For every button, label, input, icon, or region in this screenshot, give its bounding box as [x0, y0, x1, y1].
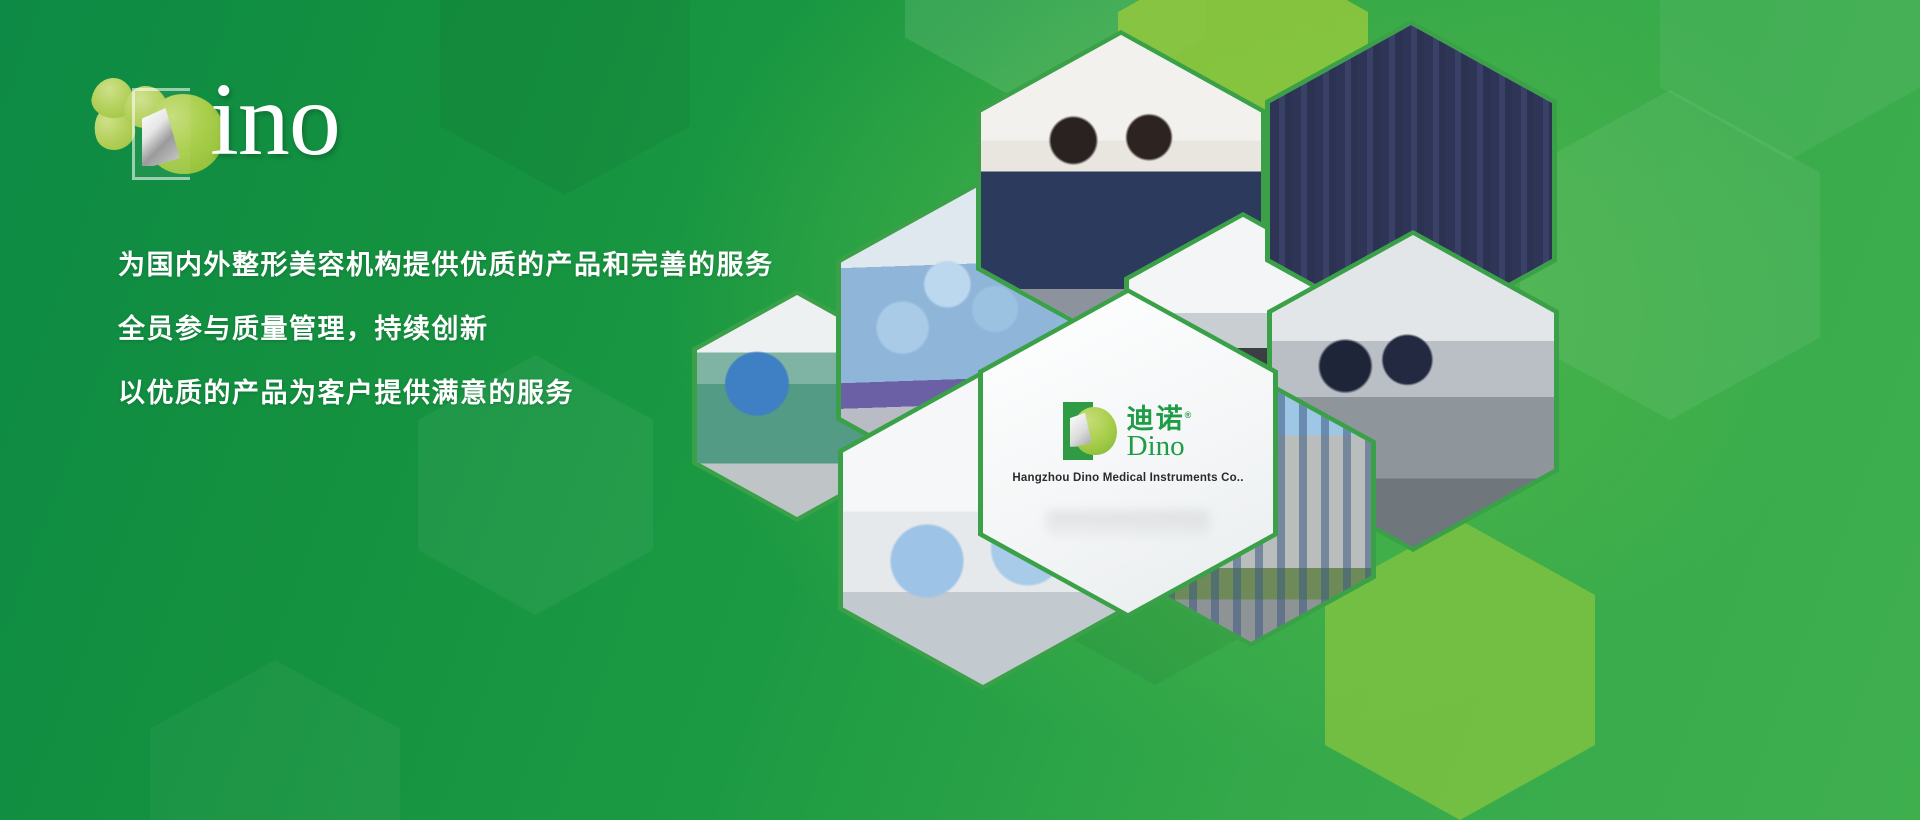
hero-banner: ino 为国内外整形美容机构提供优质的产品和完善的服务 全员参与质量管理，持续创… — [0, 0, 1920, 820]
logo-wordmark: ino — [210, 68, 340, 172]
center-logo-company-line: Hangzhou Dino Medical Instruments Co.. — [983, 472, 1273, 484]
hex-photo-cluster: 迪诺® Dino Hangzhou Dino Medical Instrumen… — [660, 0, 1920, 820]
trademark-icon: ® — [1185, 410, 1194, 420]
dino-d-mark-icon — [128, 88, 220, 180]
center-logo-lockup: 迪诺® Dino — [983, 402, 1273, 460]
dino-logo: ino — [92, 72, 392, 182]
headline-block: ino 为国内外整形美容机构提供优质的产品和完善的服务 全员参与质量管理，持续创… — [0, 0, 760, 820]
center-logo-cn: 迪诺® — [1127, 402, 1194, 432]
center-logo-en: Dino — [1127, 432, 1194, 460]
center-logo-blurred-line — [1047, 511, 1209, 537]
dino-leaf-d-icon — [1063, 402, 1117, 460]
